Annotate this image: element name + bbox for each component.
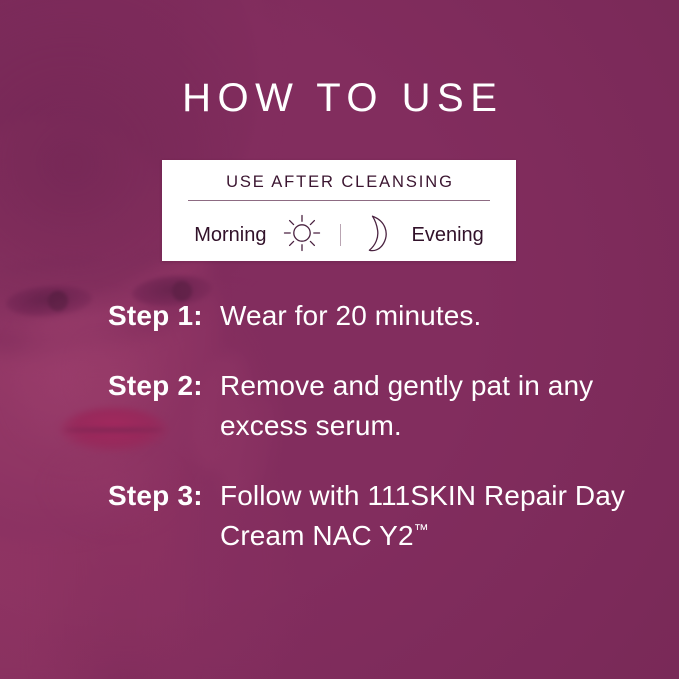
step-label: Step 3: [108, 476, 220, 516]
morning-label: Morning [194, 225, 266, 245]
card-title: USE AFTER CLEANSING [162, 173, 516, 192]
moon-icon [361, 213, 395, 258]
sun-icon [282, 213, 322, 258]
evening-label: Evening [411, 225, 483, 245]
step-label: Step 2: [108, 366, 220, 406]
how-to-use-panel: HOW TO USE USE AFTER CLEANSING Morning [0, 0, 679, 679]
content-layer: HOW TO USE USE AFTER CLEANSING Morning [0, 0, 679, 679]
use-after-cleansing-card: USE AFTER CLEANSING Morning [162, 160, 516, 261]
trademark-symbol: ™ [414, 522, 430, 539]
step-text: Remove and gently pat in any excess seru… [220, 366, 648, 446]
step-text-body: Follow with 111SKIN Repair Day Cream NAC… [220, 480, 625, 551]
steps-list: Step 1: Wear for 20 minutes. Step 2: Rem… [108, 296, 648, 556]
step-item-3: Step 3: Follow with 111SKIN Repair Day C… [108, 476, 648, 556]
usage-times-row: Morning [162, 214, 516, 256]
card-divider [188, 200, 490, 201]
step-item-1: Step 1: Wear for 20 minutes. [108, 296, 648, 336]
time-separator [340, 224, 341, 246]
page-title: HOW TO USE [0, 76, 679, 120]
step-text: Follow with 111SKIN Repair Day Cream NAC… [220, 476, 648, 556]
step-label: Step 1: [108, 296, 220, 336]
step-item-2: Step 2: Remove and gently pat in any exc… [108, 366, 648, 446]
step-text: Wear for 20 minutes. [220, 296, 481, 336]
